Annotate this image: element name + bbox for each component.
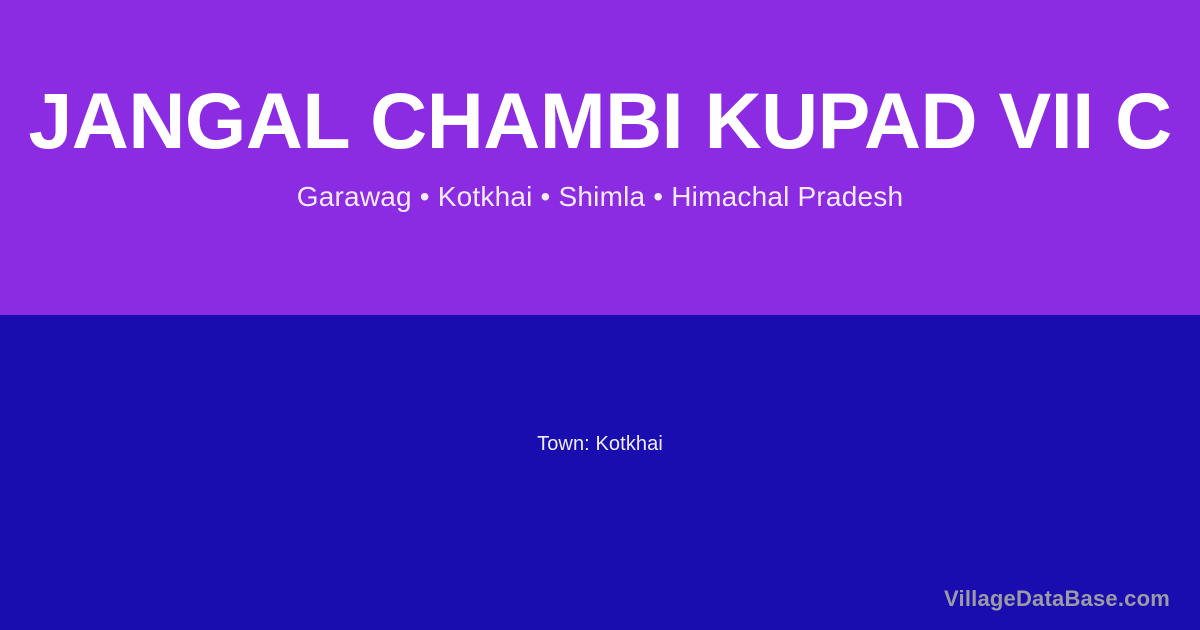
location-breadcrumb: Garawag • Kotkhai • Shimla • Himachal Pr… bbox=[0, 180, 1200, 214]
hero-text-stack: JANGAL CHAMBI KUPAD VII C Garawag • Kotk… bbox=[0, 0, 1200, 315]
details-list: Town: Kotkhai bbox=[0, 315, 1200, 630]
hero-band: JANGAL CHAMBI KUPAD VII C Garawag • Kotk… bbox=[0, 0, 1200, 315]
page-title: JANGAL CHAMBI KUPAD VII C bbox=[0, 80, 1200, 162]
village-info-card: JANGAL CHAMBI KUPAD VII C Garawag • Kotk… bbox=[0, 0, 1200, 630]
detail-town: Town: Kotkhai bbox=[537, 431, 663, 458]
details-band: Town: Kotkhai VillageDataBase.com bbox=[0, 315, 1200, 630]
site-watermark: VillageDataBase.com bbox=[944, 586, 1170, 612]
